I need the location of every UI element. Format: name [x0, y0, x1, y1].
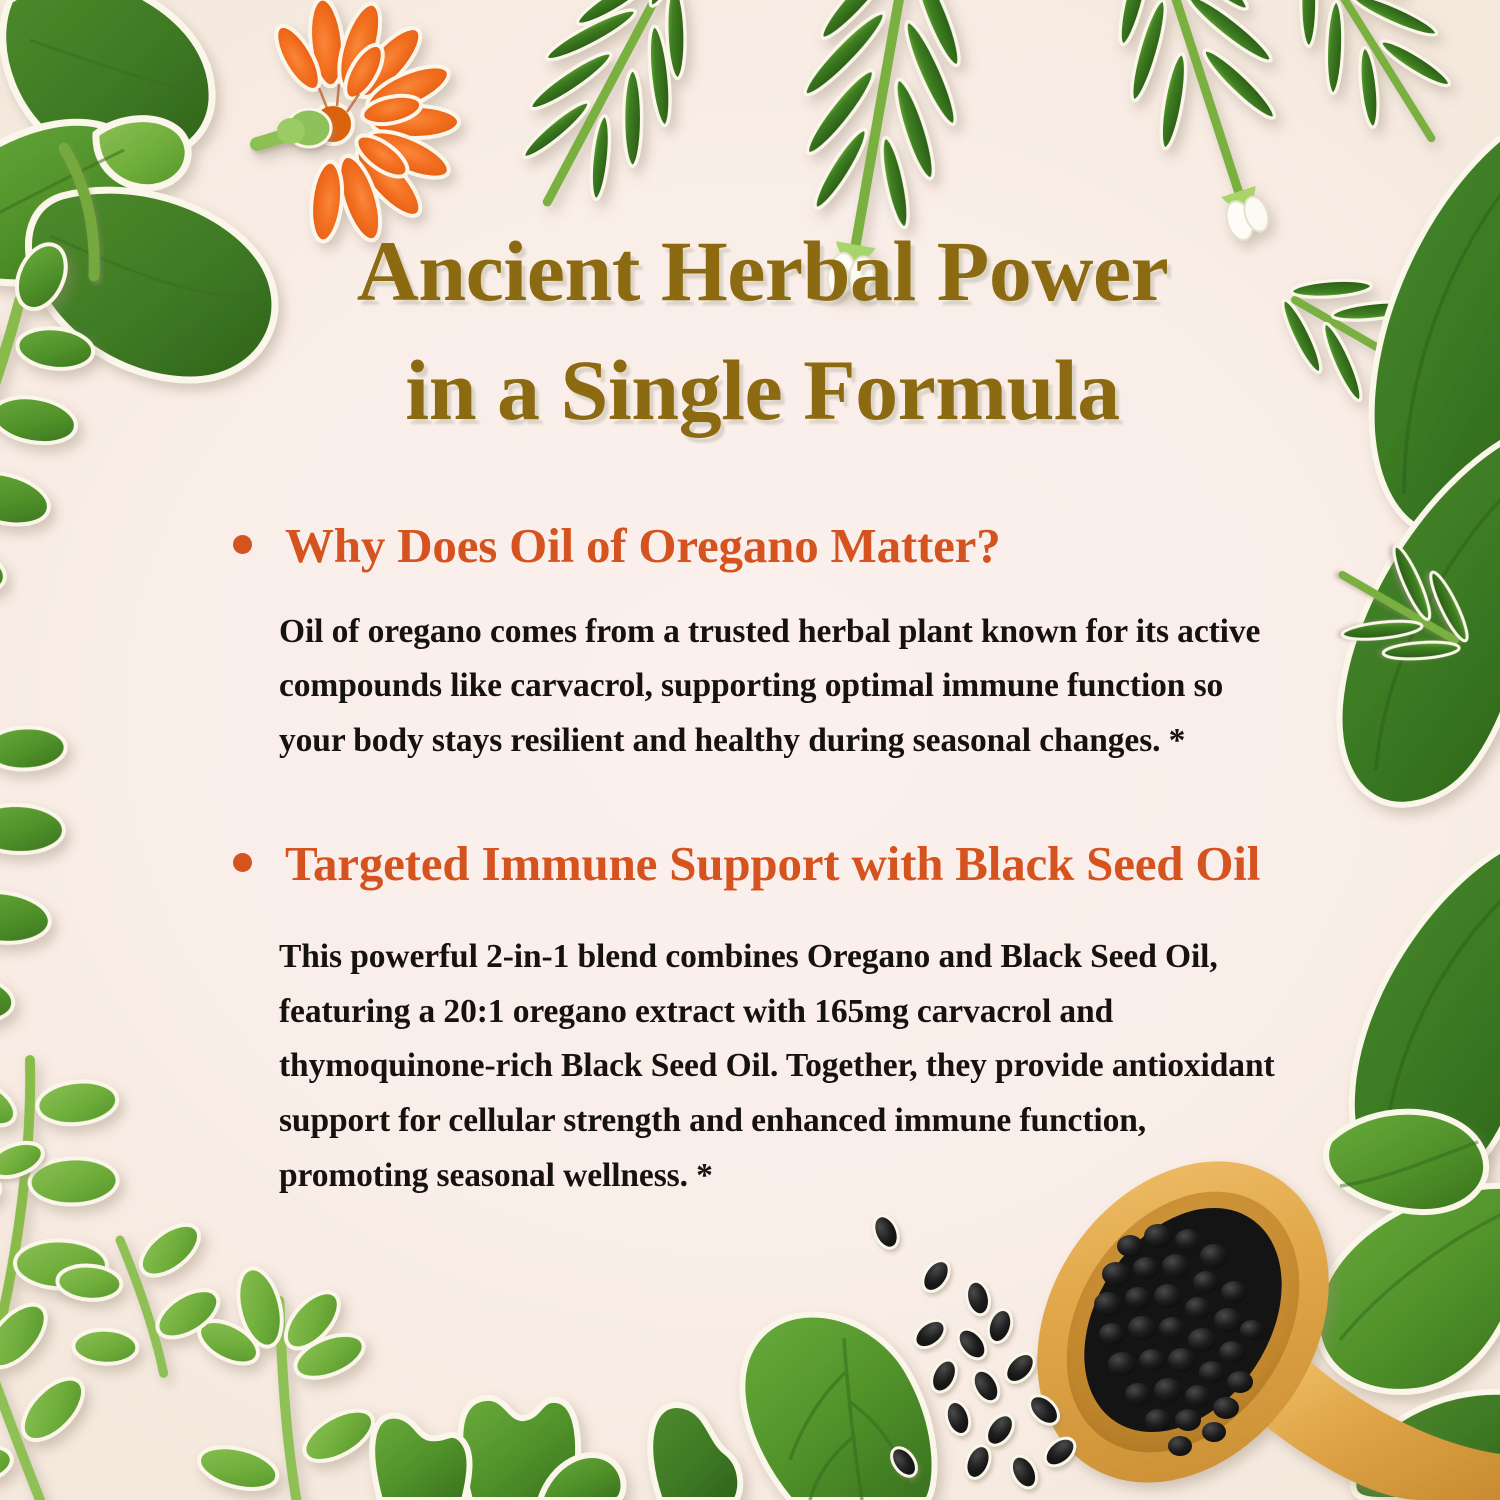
title-line-1: Ancient Herbal Power: [245, 212, 1280, 331]
poster-title: Ancient Herbal Power in a Single Formula: [205, 212, 1300, 449]
benefit-body: This powerful 2-in-1 blend combines Oreg…: [279, 930, 1300, 1203]
benefit-list: Why Does Oil of Oregano Matter? Oil of o…: [205, 509, 1300, 1203]
mint-leaves-bottom-right: [1317, 1112, 1500, 1500]
rosemary-sprig-right: [1313, 525, 1496, 697]
calendula-flower-top-left: [257, 0, 459, 245]
poster-content: Ancient Herbal Power in a Single Formula…: [205, 212, 1300, 1203]
benefit-item-black-seed-oil: Targeted Immune Support with Black Seed …: [227, 827, 1300, 1203]
basil-stem: [64, 148, 94, 276]
black-seeds-in-spoon: [1043, 1171, 1322, 1469]
bullet-dot-icon: [233, 853, 252, 872]
oregano-sprigs-left: [0, 206, 152, 1356]
basil-leaf-bottom-center: [650, 1314, 934, 1500]
sage-leaves-right: [1340, 130, 1500, 1192]
thyme-sprigs-bottom-left: [0, 1199, 391, 1500]
benefit-heading: Targeted Immune Support with Black Seed …: [285, 827, 1300, 901]
benefit-item-oil-of-oregano: Why Does Oil of Oregano Matter? Oil of o…: [227, 509, 1300, 768]
black-seeds-scattered: [869, 1212, 1080, 1492]
benefit-body: Oil of oregano comes from a trusted herb…: [279, 605, 1279, 769]
bullet-dot-icon: [233, 535, 252, 554]
product-infographic-poster: Ancient Herbal Power in a Single Formula…: [0, 0, 1500, 1500]
benefit-heading: Why Does Oil of Oregano Matter?: [285, 509, 1300, 583]
title-line-2: in a Single Formula: [245, 331, 1280, 450]
arugula-leaves-bottom-center: [372, 1398, 623, 1500]
